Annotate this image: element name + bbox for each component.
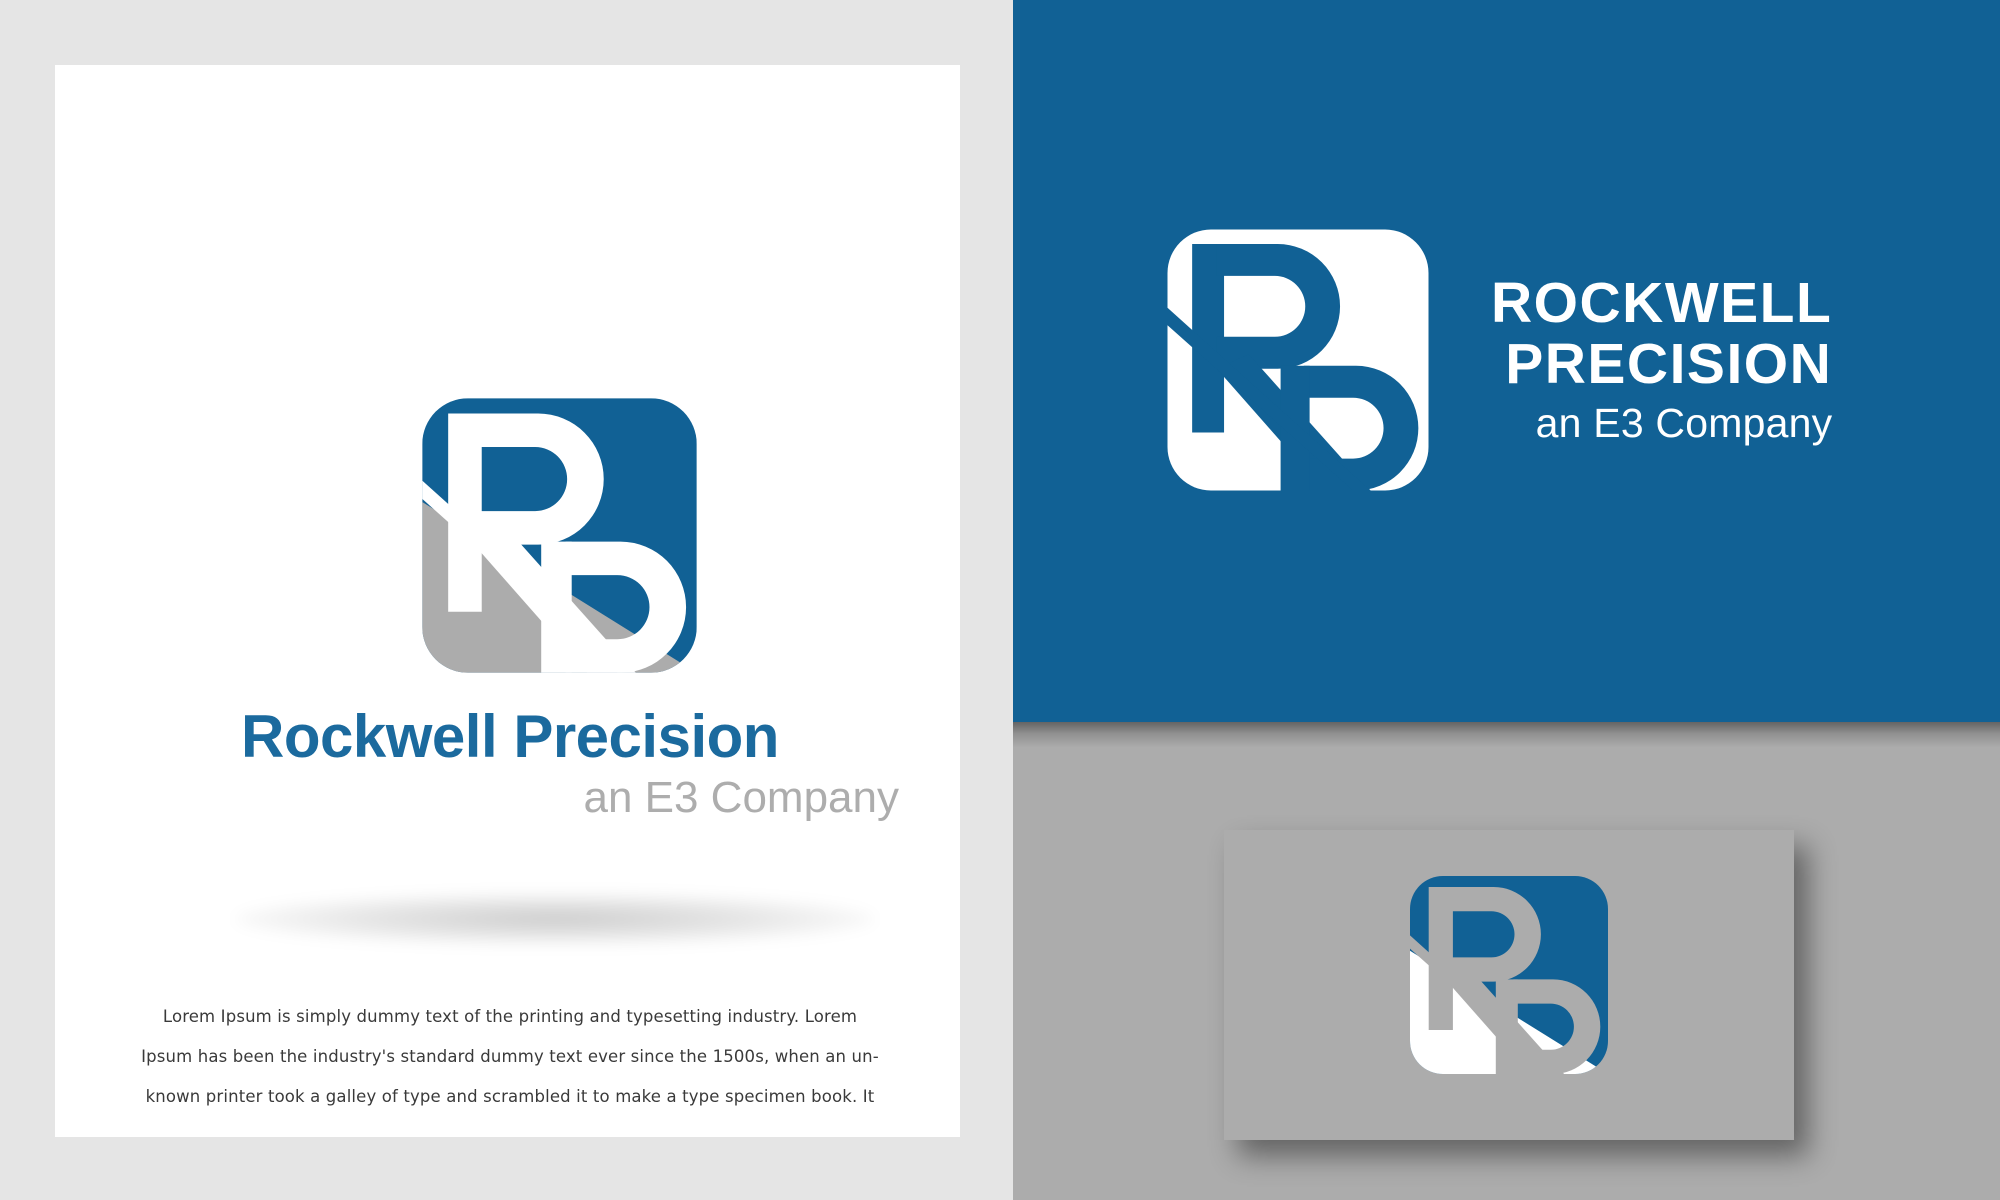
logo-mark-primary: [407, 383, 712, 688]
wordmark: Rockwell Precision an E3 Company: [115, 705, 905, 822]
wordmark-subtitle: an E3 Company: [115, 774, 905, 822]
description-line: Ipsum has been the industry's standard d…: [130, 1037, 890, 1077]
lockup-text: ROCKWELL PRECISION an E3 Company: [1491, 273, 1832, 447]
lockup-line-1: ROCKWELL: [1491, 273, 1832, 333]
description-paragraph: Lorem Ipsum is simply dummy text of the …: [130, 997, 890, 1117]
description-line: known printer took a galley of type and …: [130, 1077, 890, 1117]
logo-mark-white: [1153, 215, 1443, 505]
business-card-mockup: [1224, 830, 1794, 1140]
logo-presentation-board: Rockwell Precision an E3 Company Lorem I…: [0, 0, 2000, 1200]
lockup-line-2: PRECISION: [1491, 334, 1832, 394]
description-line: Lorem Ipsum is simply dummy text of the …: [130, 997, 890, 1037]
gray-mockup-panel: [1013, 722, 2000, 1200]
primary-logo-sheet: Rockwell Precision an E3 Company Lorem I…: [55, 65, 960, 1137]
blue-brand-panel: ROCKWELL PRECISION an E3 Company: [1013, 0, 2000, 722]
lockup-line-3: an E3 Company: [1491, 400, 1832, 447]
horizontal-lockup: ROCKWELL PRECISION an E3 Company: [1153, 215, 1832, 505]
mockups-column: ROCKWELL PRECISION an E3 Company: [1013, 0, 2000, 1200]
logo-mark-on-card: [1399, 865, 1619, 1085]
wordmark-title: Rockwell Precision: [115, 705, 905, 768]
wordmark-shadow: [235, 893, 875, 945]
